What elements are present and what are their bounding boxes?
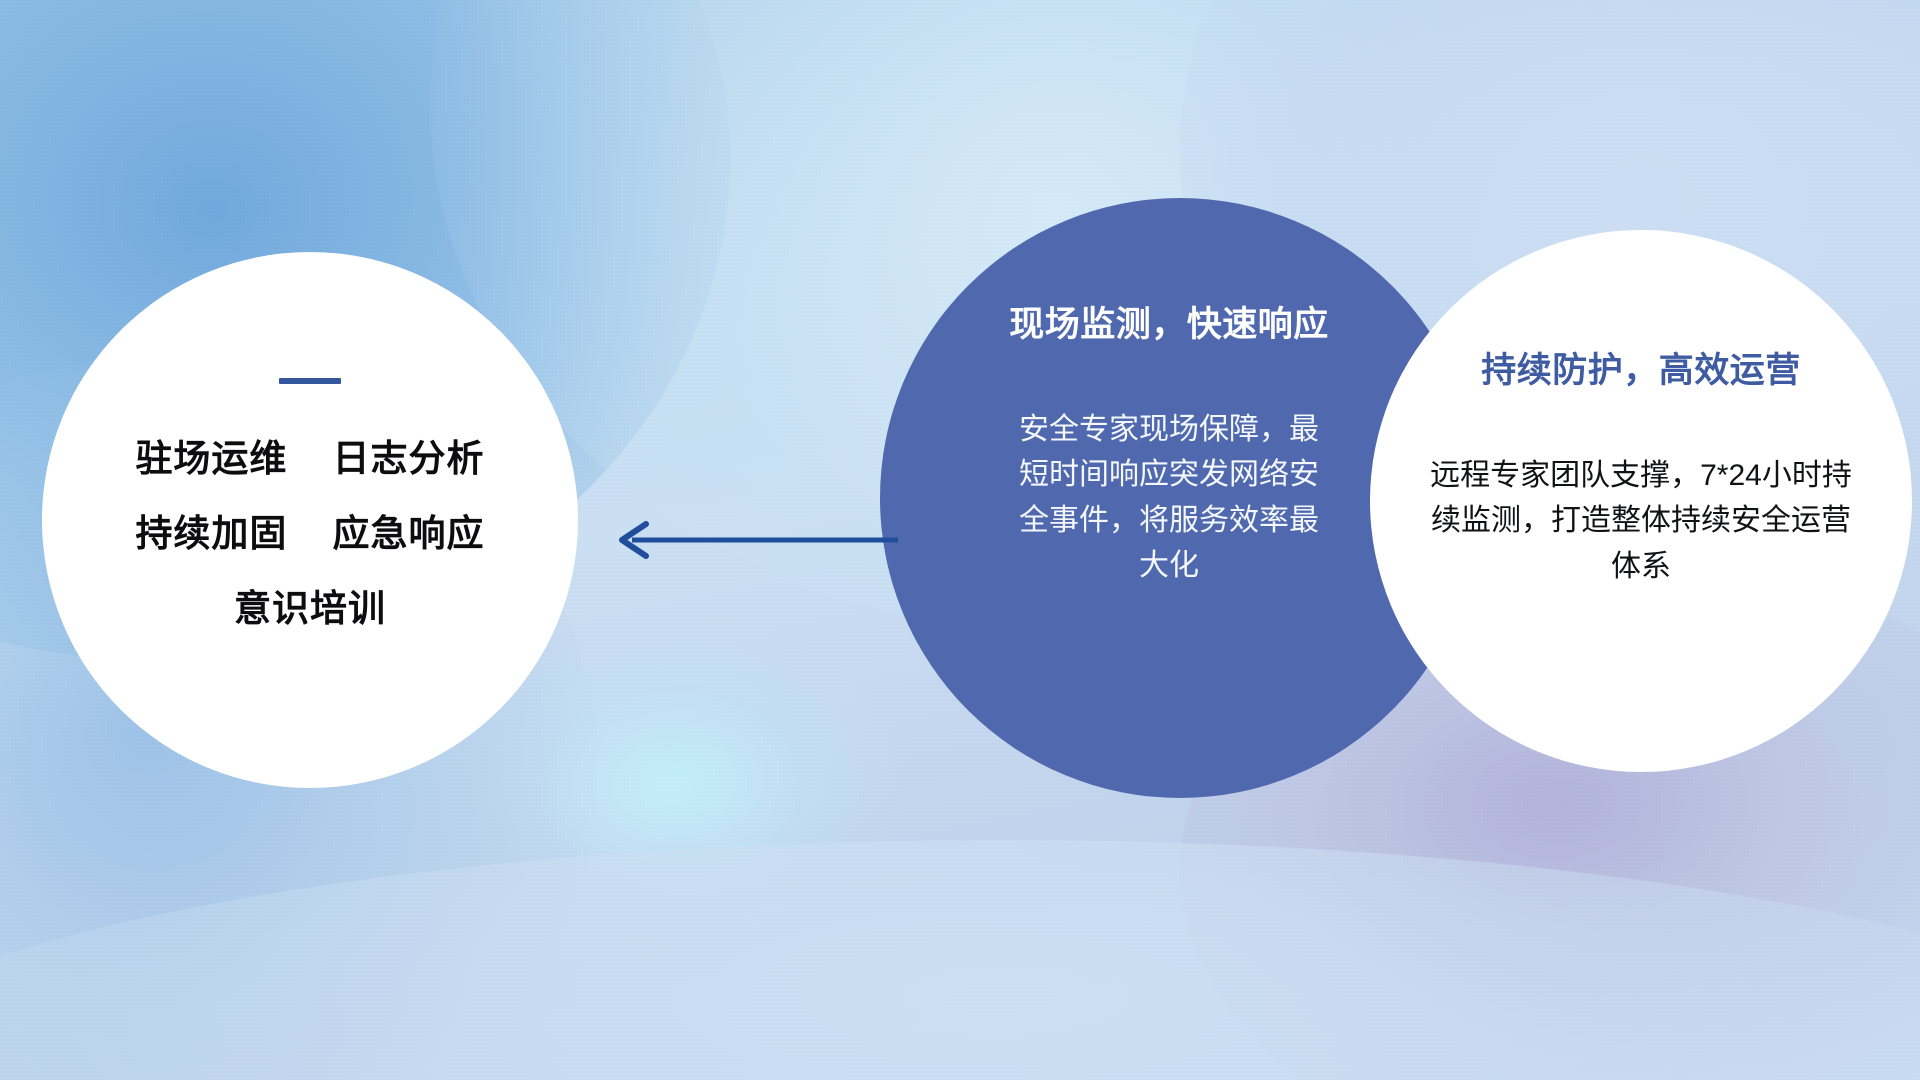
continuous-protection-title: 持续防护，高效运营 — [1481, 352, 1801, 391]
keyword-line-2: 持续加固 应急响应 — [135, 515, 484, 552]
continuous-protection-group: 持续防护，高效运营 远程专家团队支撑，7*24小时持续监测，打造整体持续安全运营… — [1370, 230, 1912, 772]
continuous-protection-body: 远程专家团队支撑，7*24小时持续监测，打造整体持续安全运营体系 — [1425, 453, 1857, 590]
keyword-line-1: 驻场运维 日志分析 — [135, 440, 484, 477]
keywords-group: 驻场运维 日志分析 持续加固 应急响应 意识培训 — [42, 252, 578, 788]
accent-dash-icon — [279, 378, 341, 384]
onsite-monitoring-body: 安全专家现场保障，最短时间响应突发网络安全事件，将服务效率最大化 — [1019, 407, 1319, 589]
onsite-monitoring-title: 现场监测，快速响应 — [1009, 306, 1329, 345]
keyword-line-3: 意识培训 — [234, 590, 386, 627]
slide-canvas: 驻场运维 日志分析 持续加固 应急响应 意识培训 现场监测，快速响应 安全专家现… — [0, 0, 1920, 1080]
connector-arrow — [598, 512, 898, 568]
